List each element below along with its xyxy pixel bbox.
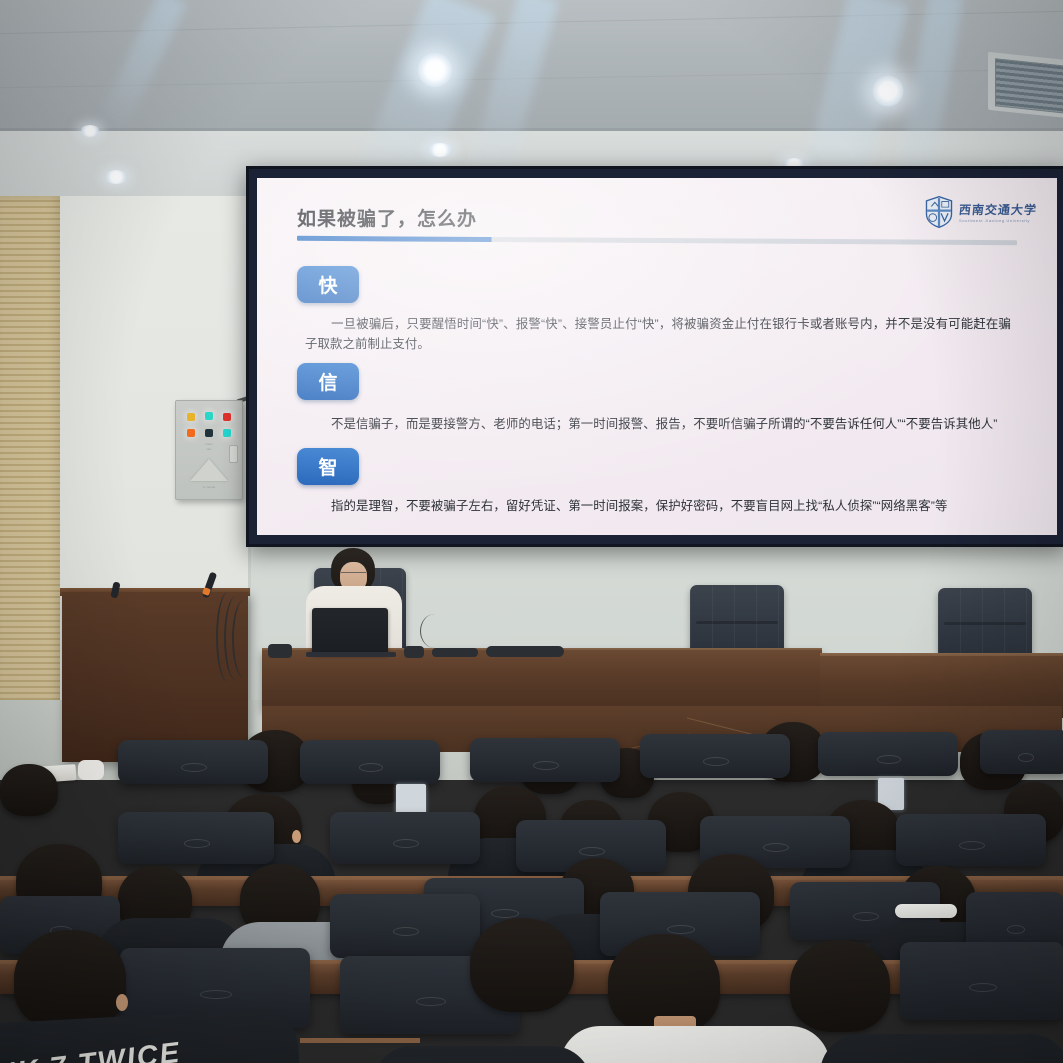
desk-equipment (404, 646, 424, 658)
cable (420, 614, 449, 648)
lecture-hall-photo: ▪▪▪▪▪▪ ▪▪▪▪ ⚠ ▪▪▪▪▪▪▪ 如果被骗了，怎么办 (0, 0, 1063, 1063)
presentation-slide: 如果被骗了，怎么办 西南交通大学 Southwest Jiaotong Univ… (257, 178, 1057, 535)
glasses-icon (341, 572, 366, 578)
ceiling-light (427, 143, 453, 157)
stage-desk (262, 650, 822, 710)
badge-kuai: 快 (297, 266, 359, 303)
student-head (14, 930, 126, 1030)
panel-switch[interactable] (229, 445, 238, 463)
desk-equipment (486, 646, 564, 657)
paragraph-zhi: 指的是理智，不要被骗子左右，留好凭证、第一时间报案，保护好密码，不要盲目网上找“… (305, 496, 1011, 516)
ceiling-light (104, 170, 128, 184)
paragraph-kuai: 一旦被骗后，只要醒悟时间“快”、报警“快”、接警员止付“快”，将被骗资金止付在银… (305, 314, 1011, 354)
auditorium-seat (818, 732, 958, 776)
student-head (790, 940, 890, 1032)
stage-chair (938, 588, 1032, 662)
title-underline-accent (297, 236, 1017, 245)
warning-triangle-icon (190, 459, 228, 481)
student-shoulders (372, 1046, 592, 1063)
student-head (470, 918, 574, 1012)
university-name-en: Southwest Jiaotong University (959, 218, 1037, 223)
badge-xin: 信 (297, 363, 359, 400)
presenter-laptop[interactable] (312, 608, 388, 654)
auditorium-seat (330, 812, 480, 864)
led-indicator-orange (187, 429, 195, 437)
auditorium-seat (118, 740, 268, 784)
paragraph-xin: 不是信骗子，而是要接警方、老师的电话；第一时间报警、报告，不要听信骗子所谓的“不… (305, 414, 1011, 434)
ear (116, 994, 128, 1011)
auditorium-seat (896, 814, 1046, 866)
auditorium-seat (470, 738, 620, 782)
desk-equipment (268, 644, 292, 658)
auditorium-seat (980, 730, 1063, 774)
student-white-tshirt: Power Amplification System Focus Lens Fr… (560, 1026, 830, 1063)
desk-equipment (432, 648, 478, 657)
audience-area: Power Amplification System Focus Lens Fr… (0, 716, 1063, 1063)
led-indicator-yellow (187, 413, 195, 421)
ceiling-light (80, 125, 100, 137)
laptop-base (306, 652, 396, 657)
air-conditioner-vent-icon (995, 58, 1063, 114)
wood-acoustic-panel (0, 196, 62, 756)
university-logo: 西南交通大学 Southwest Jiaotong University (925, 196, 1037, 228)
electrical-control-panel[interactable]: ▪▪▪▪▪▪ ▪▪▪▪ ⚠ ▪▪▪▪▪▪▪ (175, 400, 243, 500)
auditorium-seat (640, 734, 790, 778)
led-indicator-red (223, 413, 231, 421)
auditorium-seat (300, 740, 440, 784)
auditorium-seat (118, 812, 274, 864)
ceiling-light (417, 52, 453, 88)
led-indicator-cyan (205, 412, 213, 420)
led-indicator-off (205, 429, 213, 437)
led-indicator-teal (223, 429, 231, 437)
ear (292, 830, 301, 843)
auditorium-seat (900, 942, 1063, 1020)
rolled-paper (895, 904, 957, 918)
slide-title: 如果被骗了，怎么办 (297, 204, 477, 231)
auditorium-seat (330, 894, 480, 958)
university-name-cn: 西南交通大学 (958, 201, 1038, 218)
shield-crest-icon (925, 196, 953, 228)
screen-glare (257, 178, 1057, 535)
cable (232, 600, 256, 678)
student-head (0, 764, 58, 816)
ceiling-light (872, 75, 904, 107)
projection-screen: 如果被骗了，怎么办 西南交通大学 Southwest Jiaotong Univ… (246, 166, 1063, 547)
student-shoulders (820, 1034, 1063, 1063)
badge-zhi: 智 (297, 448, 359, 485)
